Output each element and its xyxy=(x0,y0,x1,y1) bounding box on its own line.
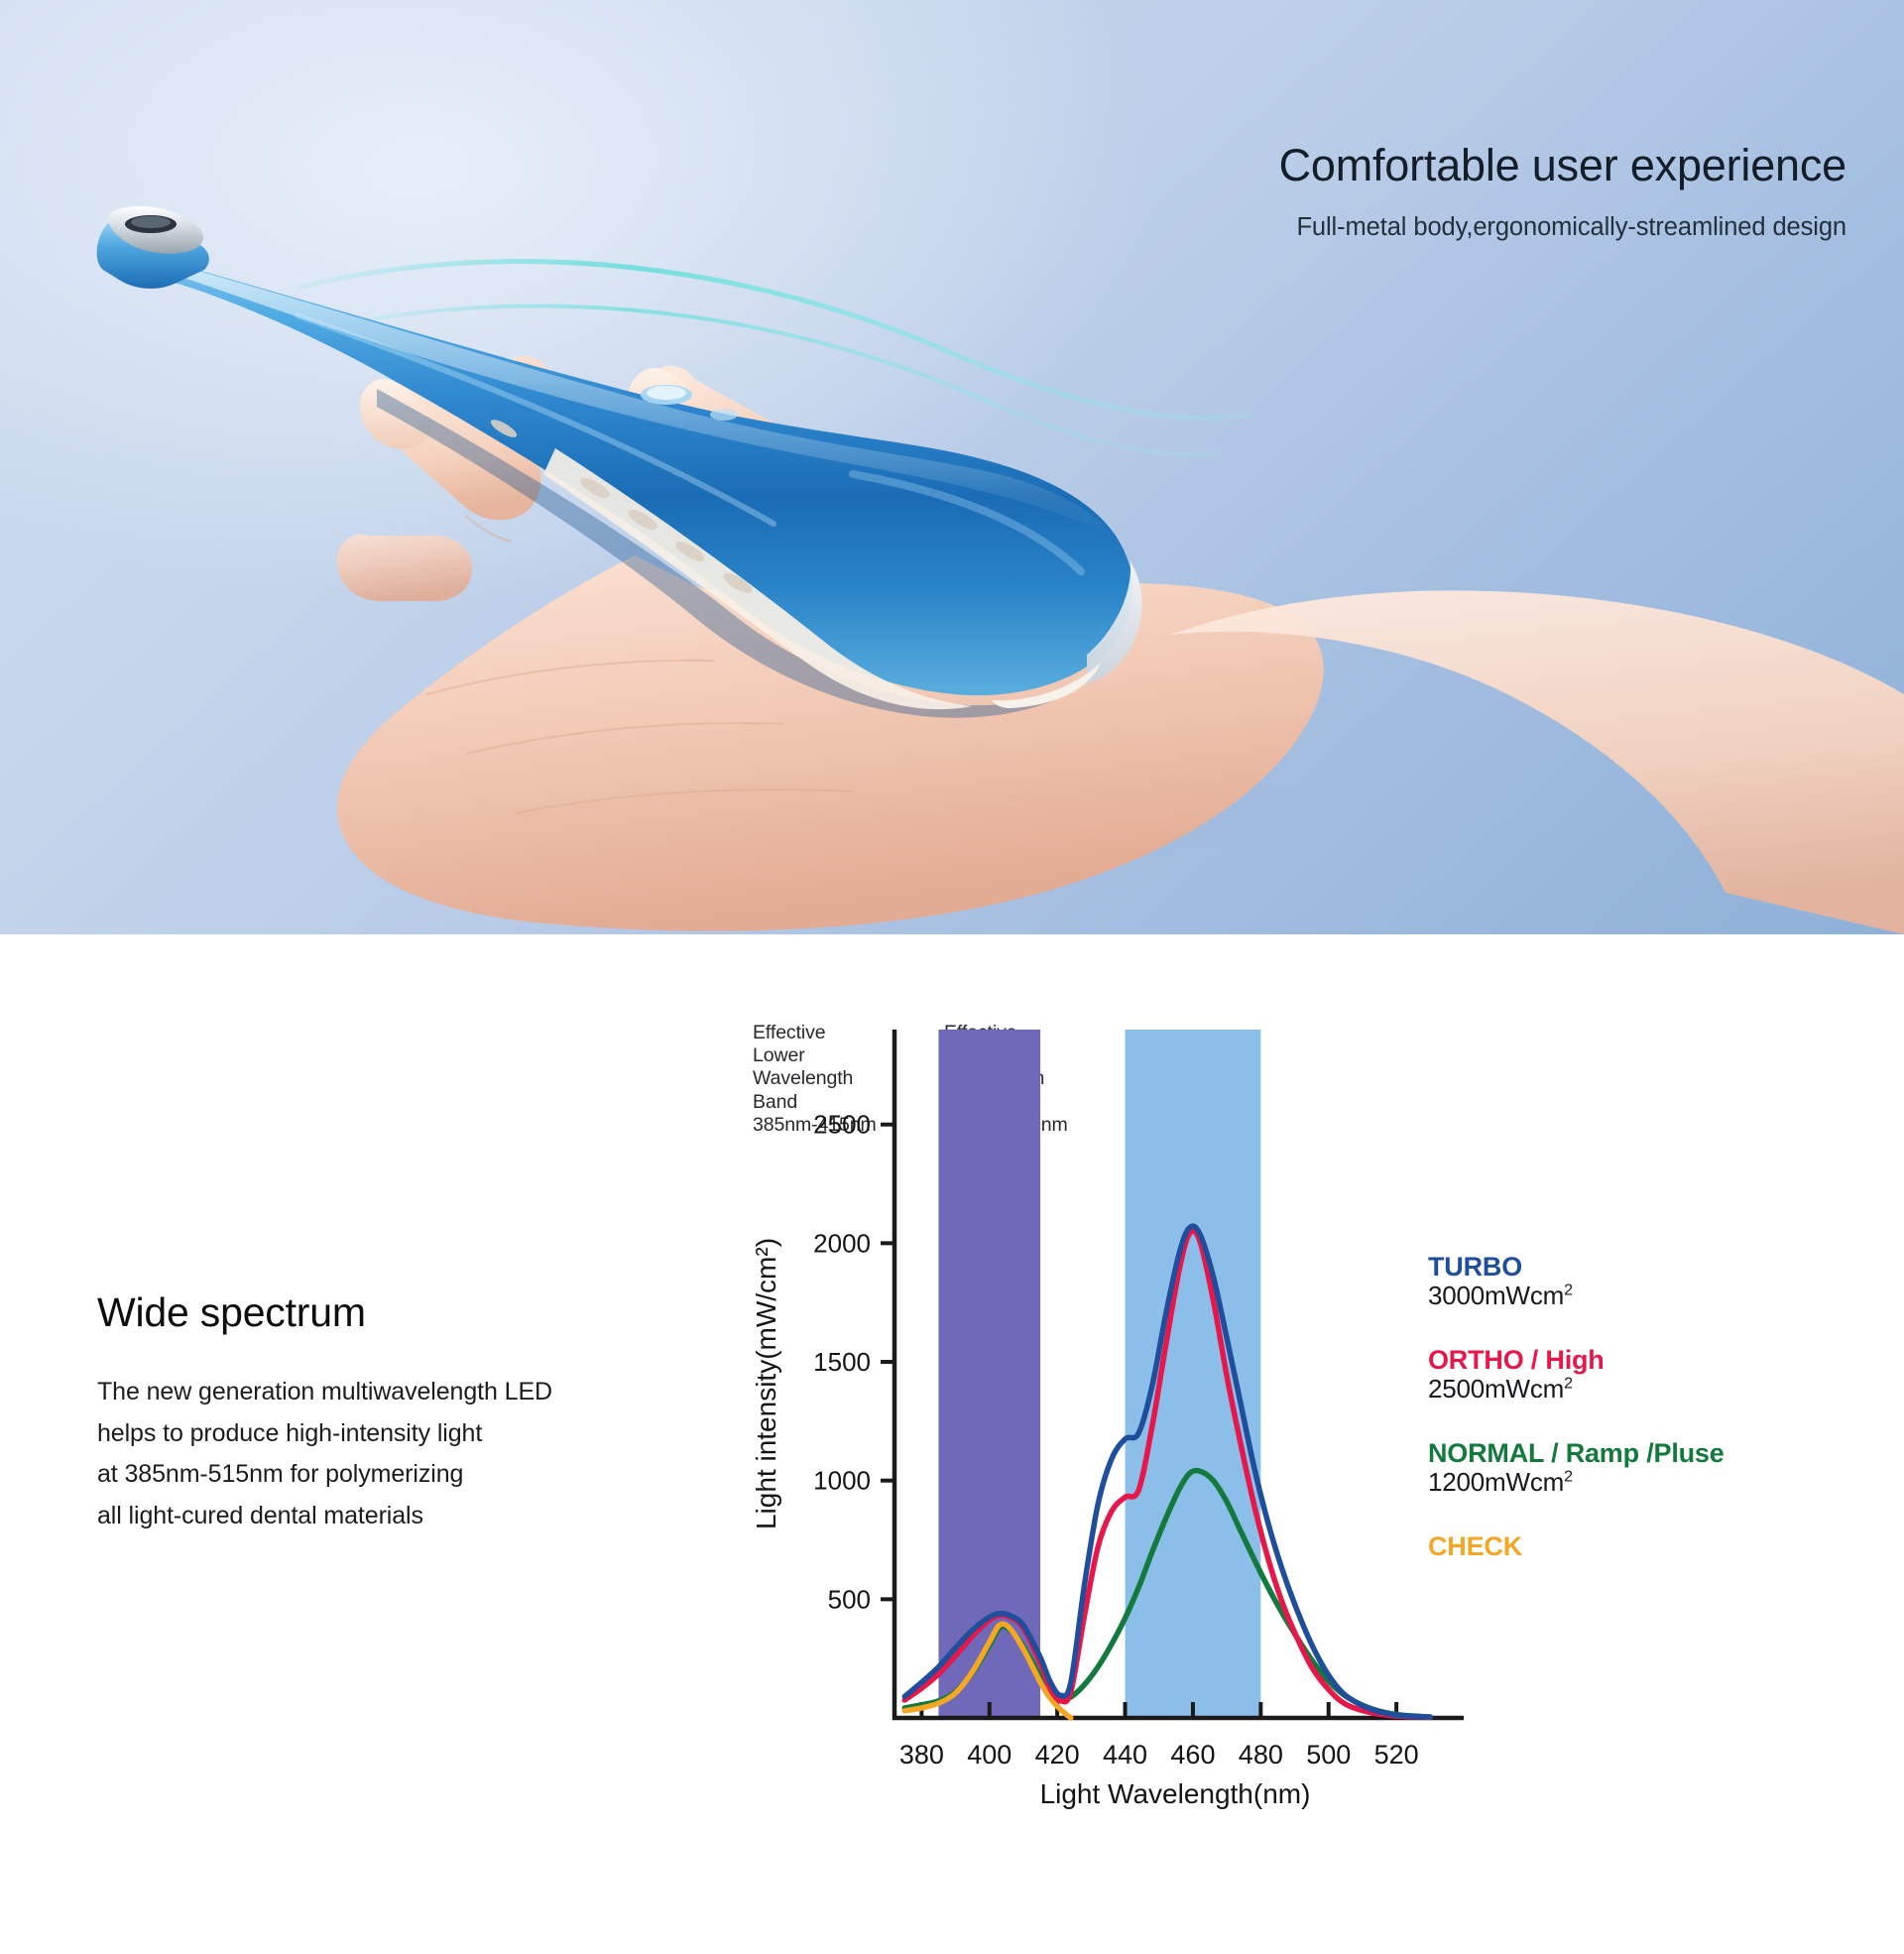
wavelength-band-upper xyxy=(1126,1030,1261,1718)
hero-title: Comfortable user experience xyxy=(1279,139,1846,191)
legend-name-check: CHECK xyxy=(1428,1531,1894,1561)
legend-name-ortho: ORTHO / High xyxy=(1428,1345,1894,1375)
spectrum-plot: 5001000150020002500380400420440460480500… xyxy=(734,934,1487,1867)
x-tick-label: 500 xyxy=(1306,1740,1351,1770)
hero-banner: Comfortable user experience Full-metal b… xyxy=(0,0,1904,934)
desc-line-1: The new generation multiwavelength LED xyxy=(97,1372,752,1413)
legend-item-ortho: ORTHO / High 2500mWcm2 xyxy=(1428,1345,1894,1404)
y-tick-label: 500 xyxy=(828,1584,871,1614)
desc-line-4: all light-cured dental materials xyxy=(97,1496,752,1537)
x-axis-label: Light Wavelength(nm) xyxy=(1040,1778,1311,1809)
x-tick-label: 380 xyxy=(899,1740,944,1770)
legend-value-ortho: 2500mWcm2 xyxy=(1428,1375,1894,1404)
x-tick-label: 460 xyxy=(1170,1740,1215,1770)
spectrum-description: The new generation multiwavelength LED h… xyxy=(97,1372,752,1536)
x-tick-label: 520 xyxy=(1374,1740,1419,1770)
x-tick-label: 440 xyxy=(1103,1740,1147,1770)
legend-value-turbo: 3000mWcm2 xyxy=(1428,1282,1894,1311)
x-tick-label: 480 xyxy=(1239,1740,1283,1770)
hero-copy: Comfortable user experience Full-metal b… xyxy=(1279,139,1846,242)
y-tick-label: 2500 xyxy=(813,1110,871,1140)
page-title: Wide spectrum xyxy=(97,1289,752,1336)
chart-legend: TURBO 3000mWcm2 ORTHO / High 2500mWcm2 N… xyxy=(1428,1252,1894,1595)
spectrum-chart: Effective Lower Wavelength Band 385nm-41… xyxy=(734,934,1904,1954)
legend-name-turbo: TURBO xyxy=(1428,1252,1894,1282)
x-tick-label: 420 xyxy=(1035,1740,1080,1770)
legend-item-turbo: TURBO 3000mWcm2 xyxy=(1428,1252,1894,1311)
legend-value-normal: 1200mWcm2 xyxy=(1428,1468,1894,1498)
spectrum-section: Wide spectrum The new generation multiwa… xyxy=(0,934,1904,1954)
desc-line-3: at 385nm-515nm for polymerizing xyxy=(97,1454,752,1496)
x-tick-label: 400 xyxy=(967,1740,1011,1770)
spectrum-text-column: Wide spectrum The new generation multiwa… xyxy=(97,1289,752,1536)
y-tick-label: 1000 xyxy=(813,1466,871,1496)
y-tick-label: 1500 xyxy=(813,1347,871,1377)
legend-item-check: CHECK xyxy=(1428,1531,1894,1561)
y-axis-label: Light intensity(mW/cm²) xyxy=(751,1238,781,1529)
desc-line-2: helps to produce high-intensity light xyxy=(97,1413,752,1455)
legend-name-normal: NORMAL / Ramp /Pluse xyxy=(1428,1438,1894,1468)
legend-item-normal: NORMAL / Ramp /Pluse 1200mWcm2 xyxy=(1428,1438,1894,1498)
hero-subtitle: Full-metal body,ergonomically-streamline… xyxy=(1279,213,1846,242)
y-tick-label: 2000 xyxy=(813,1228,871,1258)
